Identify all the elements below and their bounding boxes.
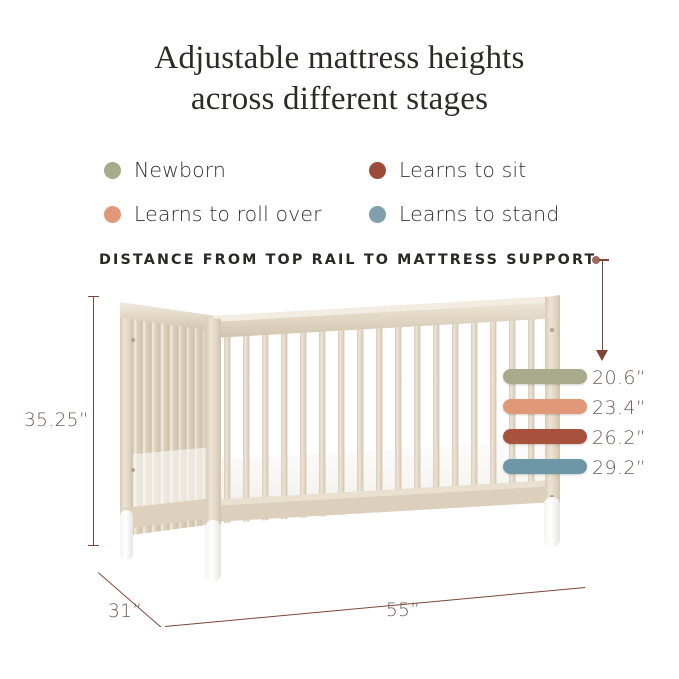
dimension-label-depth: 31” [108,601,142,622]
measurement-label-learns-to-sit: 26.2” [592,427,646,449]
height-pill-learns-to-sit [503,429,587,444]
measurement-label-newborn: 20.6” [592,367,646,389]
dimension-cap-top [88,296,99,297]
crib-leg-back-left [120,510,133,560]
height-pill-learns-to-roll-over [503,399,587,414]
dimension-label-width: 55” [386,600,420,621]
dimension-cap-bottom [88,545,99,546]
hardware-screw-icon [550,328,554,332]
measurement-label-learns-to-roll-over: 23.4” [592,397,646,419]
dimension-label-height: 35.25” [24,410,89,431]
height-pill-learns-to-stand [503,459,587,474]
crib-left-post [120,302,133,540]
crib-left-end-panel [120,300,216,556]
dimension-line-height [93,296,94,546]
crib-leg-right [544,497,560,547]
infographic-canvas: Adjustable mattress heights across diffe… [0,0,679,679]
measurement-label-learns-to-stand: 29.2” [592,457,646,479]
crib-front-left-post [206,317,221,545]
hardware-screw-icon [131,338,135,342]
hardware-screw-icon [131,468,135,472]
crib-leg-front-left [205,520,221,582]
height-pill-newborn [503,369,587,384]
